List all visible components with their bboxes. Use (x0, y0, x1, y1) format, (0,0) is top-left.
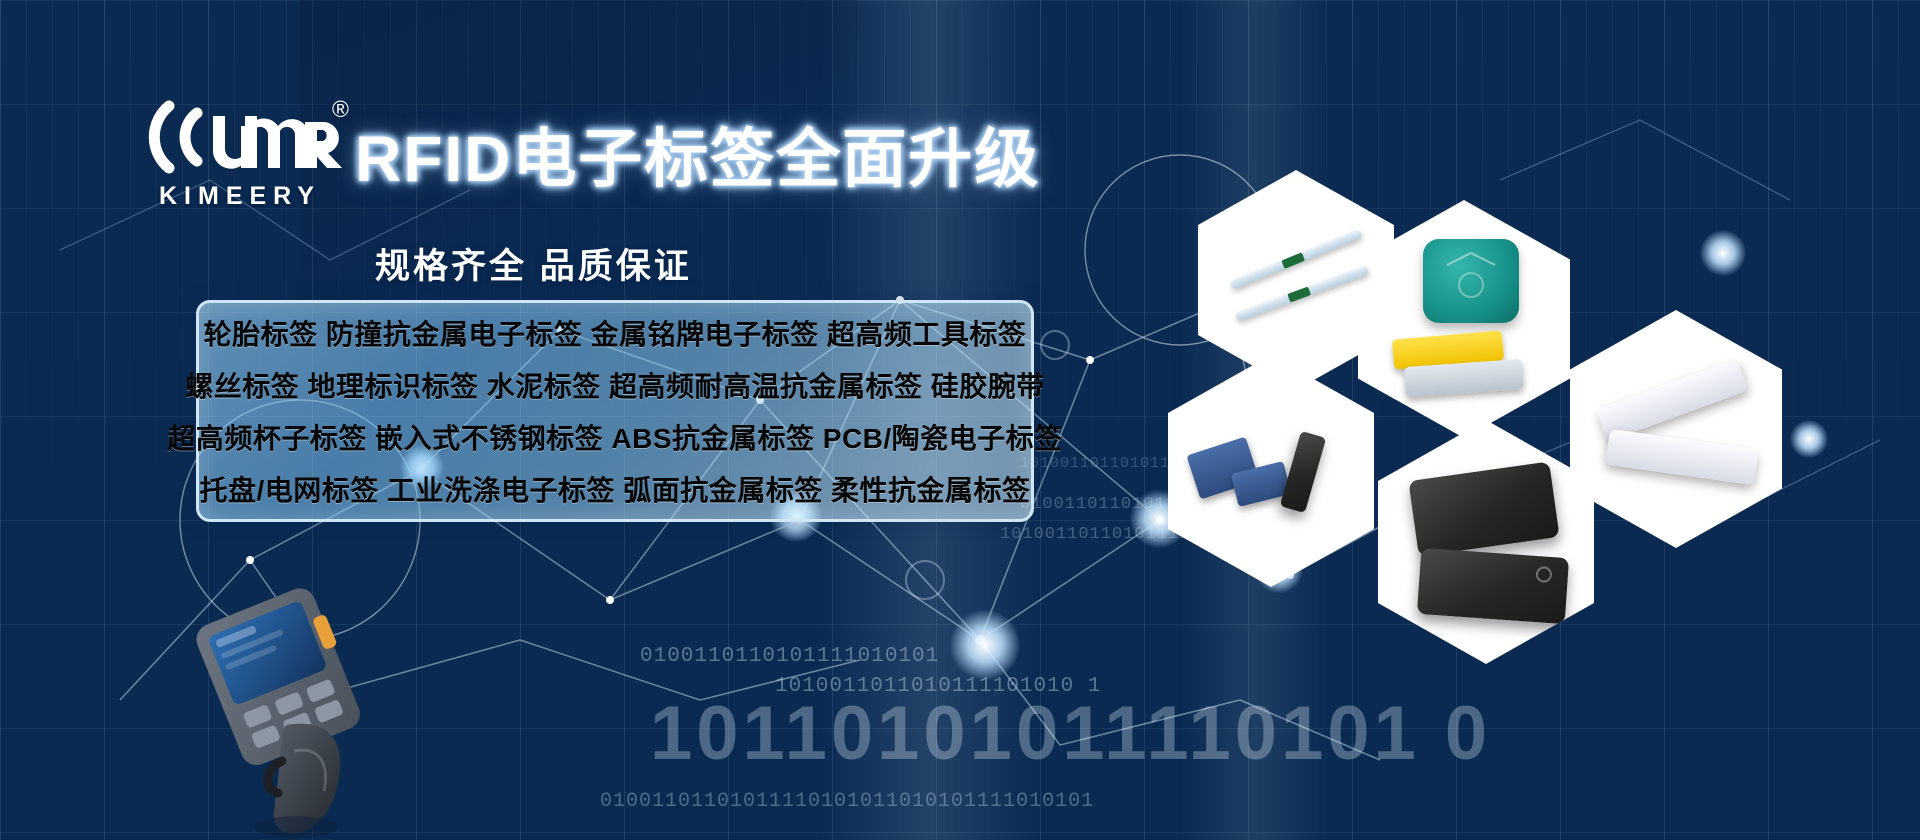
handheld-reader-icon (190, 575, 420, 840)
black-plate-product-1 (1409, 462, 1560, 557)
hex-inner (1585, 327, 1767, 532)
hex-inner (1393, 437, 1579, 647)
hex-inner (1373, 217, 1555, 422)
decor-ring-1 (905, 560, 945, 600)
rod-chip-icon (1281, 253, 1305, 270)
registered-trademark-icon: ® (332, 98, 349, 121)
rfid-handheld-reader (190, 575, 420, 840)
black-bar-product (1280, 431, 1326, 513)
headline: RFID电子标签全面升级 (355, 108, 1040, 200)
plate-hole-icon (1417, 548, 1569, 624)
tag-list-row: 超高频杯子标签 嵌入式不锈钢标签 ABS抗金属标签 PCB/陶瓷电子标签 (209, 411, 1021, 463)
teal-disc-product (1423, 239, 1519, 323)
glow-node-1 (950, 610, 1020, 680)
decor-ring-2 (1040, 330, 1070, 360)
signal-wave-mr-icon (135, 96, 345, 178)
brand-wordmark: KIMEERY (135, 182, 345, 211)
tag-list-row: 托盘/电网标签 工业洗涤电子标签 弧面抗金属标签 柔性抗金属标签 (209, 463, 1021, 515)
hex-inner (1212, 185, 1381, 374)
hex-inner (1182, 371, 1359, 571)
black-plate-product-2 (1417, 548, 1569, 624)
white-bar-product-1 (1596, 358, 1749, 441)
rod-chip-icon (1287, 287, 1311, 303)
product-tag-list-panel: 轮胎标签 防撞抗金属电子标签 金属铭牌电子标签 超高频工具标签 螺丝标签 地理标… (196, 300, 1034, 522)
brand-logo: ® KIMEERY (135, 96, 345, 211)
white-bar-product-2 (1605, 428, 1759, 485)
tag-list-row: 螺丝标签 地理标识标签 水泥标签 超高频耐高温抗金属标签 硅胶腕带 (209, 359, 1021, 411)
teal-disc-detail-icon (1423, 239, 1519, 323)
subtitle: 规格齐全 品质保证 (375, 238, 692, 289)
glow-node-6 (1700, 230, 1746, 276)
glow-node-7 (1790, 420, 1828, 458)
promotional-banner: 0100110110101111010101 10100110110101111… (0, 0, 1920, 840)
logo-mark-icon: ® (135, 96, 345, 178)
tag-list-row: 轮胎标签 防撞抗金属电子标签 金属铭牌电子标签 超高频工具标签 (209, 307, 1021, 359)
